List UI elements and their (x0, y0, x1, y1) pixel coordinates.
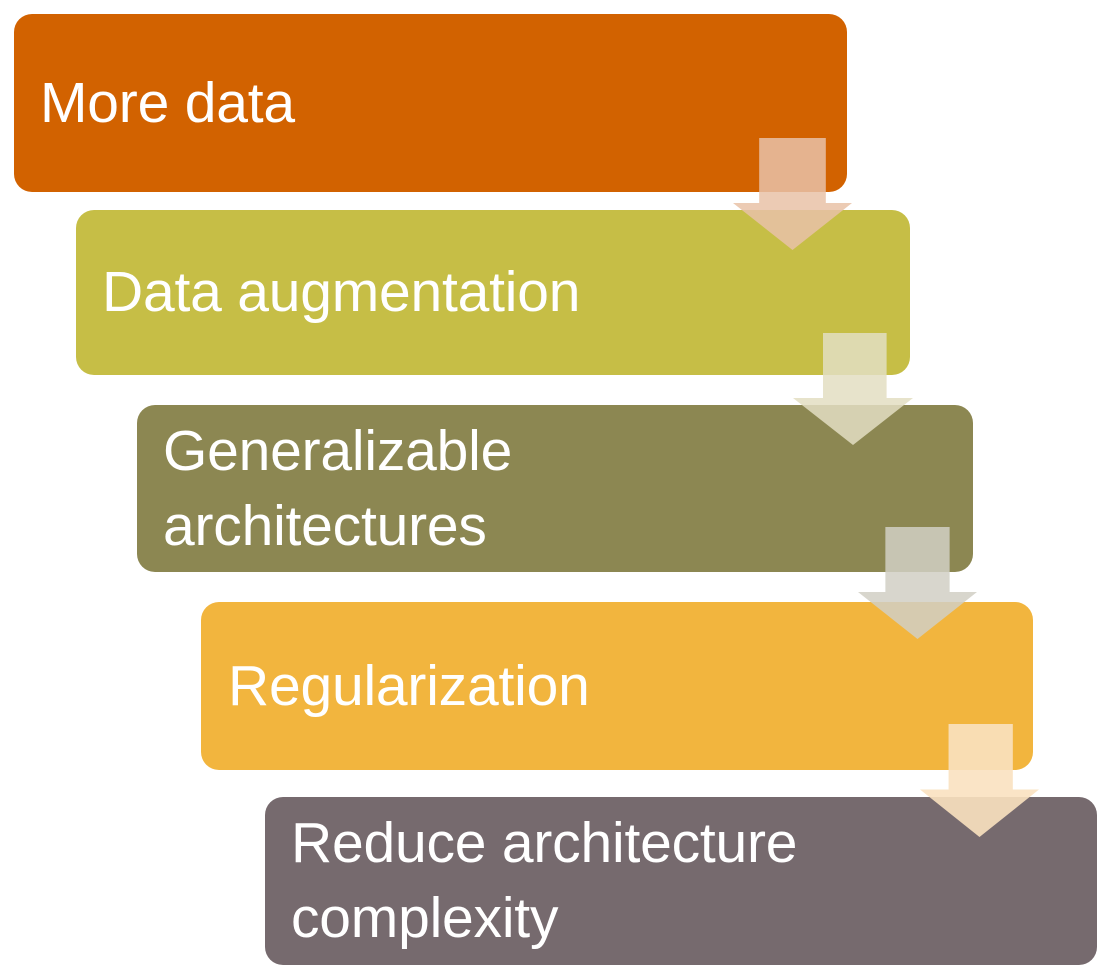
step-label-data-augmentation: Data augmentation (102, 255, 580, 330)
step-label-regularization: Regularization (228, 649, 590, 724)
step-box-generalizable-architectures[interactable]: Generalizable architectures (137, 405, 973, 572)
step-label-reduce-architecture-complexity: Reduce architecture complexity (291, 806, 797, 956)
step-label-generalizable-architectures: Generalizable architectures (163, 414, 512, 564)
step-box-reduce-architecture-complexity[interactable]: Reduce architecture complexity (265, 797, 1097, 965)
step-label-more-data: More data (40, 66, 295, 141)
step-box-data-augmentation[interactable]: Data augmentation (76, 210, 910, 375)
step-box-regularization[interactable]: Regularization (201, 602, 1033, 770)
step-box-more-data[interactable]: More data (14, 14, 847, 192)
diagram-canvas: More data Data augmentation Generalizabl… (0, 0, 1110, 979)
